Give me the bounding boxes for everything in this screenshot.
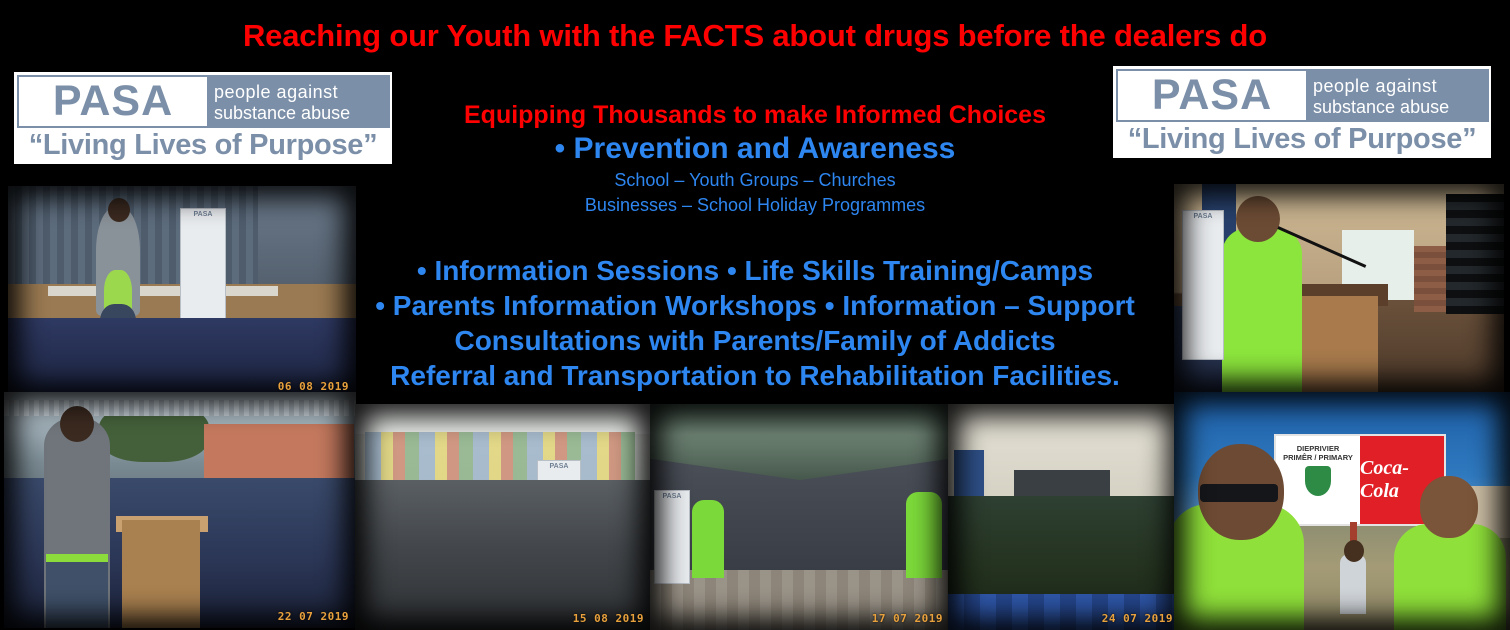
logo-motto: “Living Lives of Purpose”: [14, 128, 392, 164]
photo-timestamp: 15 08 2019: [573, 612, 644, 625]
photo-school-sign-selfie: DIEPRIVIER PRIMÊR / PRIMARY Coca-Cola: [1174, 392, 1510, 630]
service-line-3: Consultations with Parents/Family of Add…: [355, 323, 1155, 358]
trestle-table: [48, 286, 278, 296]
service-line-2: • Parents Information Workshops • Inform…: [355, 288, 1155, 323]
subheading-red: Equipping Thousands to make Informed Cho…: [360, 100, 1150, 130]
photo-timestamp: 24 07 2019: [1102, 612, 1173, 625]
photo-timestamp: 17 07 2019: [872, 612, 943, 625]
copy-block-upper: Equipping Thousands to make Informed Cho…: [360, 100, 1150, 218]
pasa-logo-right: PASA people against substance abuse “Liv…: [1113, 66, 1491, 158]
photo-timestamp: 06 08 2019: [278, 380, 349, 393]
pasa-outreach-poster: Reaching our Youth with the FACTS about …: [0, 0, 1510, 630]
audience-line-1: School – Youth Groups – Churches: [360, 168, 1150, 193]
school-building: [204, 424, 354, 484]
school-crest-icon: [1305, 466, 1331, 496]
photo-hall-talk: PASA 06 08 2019: [8, 186, 356, 398]
logo-tagline-line2: substance abuse: [1313, 97, 1485, 118]
learner-group: [355, 480, 651, 630]
wooden-podium: [1292, 296, 1378, 392]
logo-tagline-line1: people against: [1313, 76, 1485, 97]
wall-charts: [365, 432, 635, 484]
photo-outdoor-assembly: 22 07 2019: [4, 392, 356, 628]
speaker-head: [60, 406, 94, 442]
classroom-ceiling: [355, 404, 651, 434]
logo-tagline: people against substance abuse: [1308, 69, 1489, 122]
school-name-panel: DIEPRIVIER PRIMÊR / PRIMARY: [1276, 436, 1360, 524]
photo-classroom-group: PASA PASA 15 08 2019: [355, 404, 651, 630]
pasa-roll-up-banner: PASA: [180, 208, 226, 332]
photo-marquee-group: PASA 17 07 2019: [650, 404, 950, 630]
logo-motto: “Living Lives of Purpose”: [1113, 122, 1491, 158]
pasa-banner: PASA: [654, 490, 690, 584]
school-name-line2: PRIMÊR / PRIMARY: [1283, 453, 1353, 462]
audience-line-2: Businesses – School Holiday Programmes: [360, 193, 1150, 218]
facilitator-left: [692, 500, 724, 578]
facilitator-right-body: [1394, 524, 1506, 630]
service-line-4: Referral and Transportation to Rehabilit…: [355, 358, 1155, 393]
bullet-prevention: • Prevention and Awareness: [360, 130, 1150, 168]
facilitator-right: [906, 492, 942, 578]
service-line-1: • Information Sessions • Life Skills Tra…: [355, 253, 1155, 288]
louvre-shutter: [1446, 194, 1504, 314]
sunglasses-icon: [1200, 484, 1278, 502]
child-background: [1340, 554, 1366, 614]
pasa-logo-left: PASA people against substance abuse “Liv…: [14, 72, 392, 164]
logo-top-row: PASA people against substance abuse: [14, 72, 392, 128]
copy-block-services: • Information Sessions • Life Skills Tra…: [355, 253, 1155, 393]
photo-timestamp: 22 07 2019: [278, 610, 349, 623]
speaker-head: [1236, 196, 1280, 242]
speaker-green-shirt: [1222, 228, 1302, 392]
school-name-line1: DIEPRIVIER: [1297, 444, 1340, 453]
photo-hall-booklets: 24 07 2019: [948, 404, 1180, 630]
child-head: [1344, 540, 1364, 562]
page-title: Reaching our Youth with the FACTS about …: [0, 19, 1510, 53]
logo-top-row: PASA people against substance abuse: [1113, 66, 1491, 122]
presenter-head: [108, 198, 130, 222]
photo-podium-speaker: PASA: [1174, 184, 1504, 392]
wooden-podium: [122, 520, 200, 628]
corrugated-roof: [4, 400, 356, 416]
logo-acronym: PASA: [17, 75, 209, 128]
pasa-banner: PASA: [1182, 210, 1224, 360]
speaker-jeans: [46, 562, 108, 628]
facilitator-right-head: [1420, 476, 1478, 538]
